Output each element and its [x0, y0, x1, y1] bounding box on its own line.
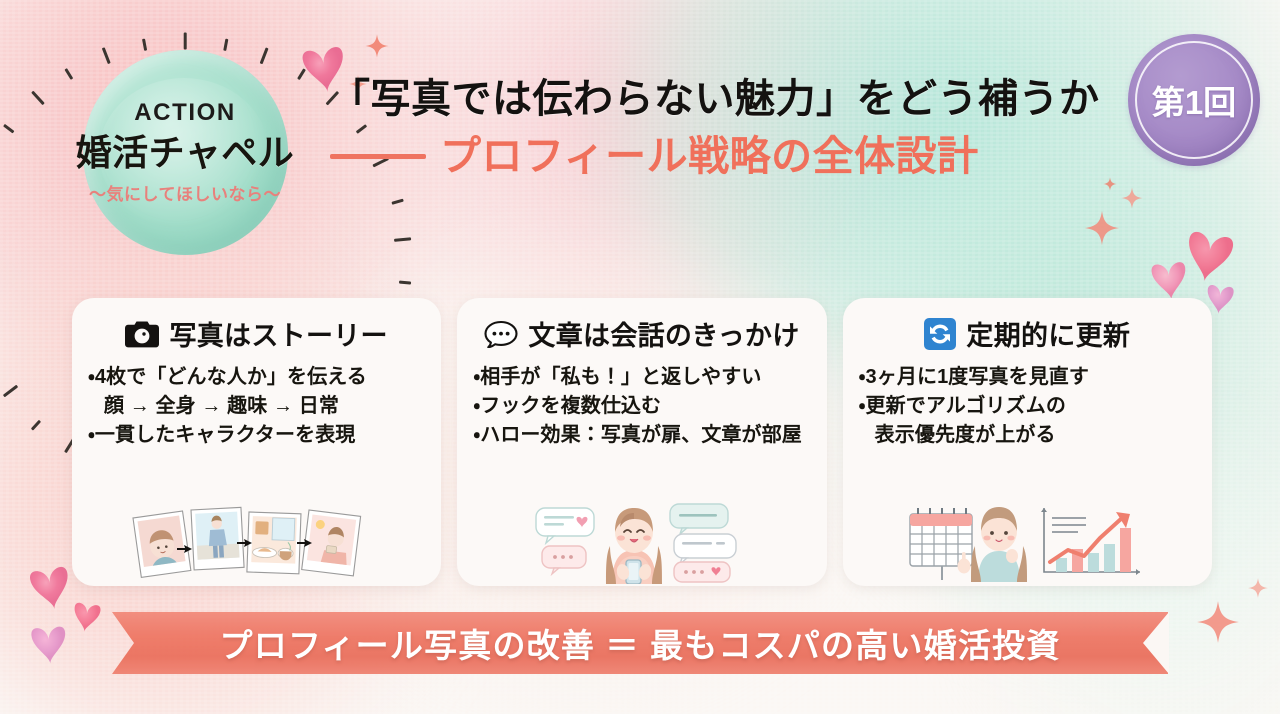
chat-woman-illustration	[522, 500, 762, 584]
card-regular-update: 定期的に更新 ・3ヶ月に1度写真を見直す ・更新でアルゴリズムの 表示優先度が上…	[843, 298, 1212, 586]
card-title: 写真はストーリー	[169, 314, 387, 353]
title-line-2: プロフィール戦略の全体設計	[440, 134, 979, 180]
card-bullet: ・4枚で「どんな人か」を伝える	[88, 363, 427, 392]
card-illustration	[72, 494, 441, 586]
camera-icon	[125, 320, 159, 348]
card-illustration	[457, 494, 826, 586]
card-bullet: ・ハロー効果：写真が扉、文章が部屋	[473, 421, 812, 450]
speech-bubble-icon	[484, 320, 518, 348]
card-bullet: ・相手が「私も！」と返しやすい	[473, 363, 812, 392]
episode-badge-label: 第1回	[1152, 76, 1236, 124]
card-row: 写真はストーリー ・4枚で「どんな人か」を伝える 顔 → 全身 → 趣味 → 日…	[72, 298, 1212, 586]
slide-title: 「写真では伝わらない魅力」をどう補うか プロフィール戦略の全体設計	[330, 76, 1120, 180]
brand-logo-badge: ACTION 婚活チャペル 〜気にしてほしいなら〜	[55, 28, 315, 278]
photo-sequence-illustration	[127, 496, 387, 582]
episode-badge: 第1回	[1128, 34, 1260, 166]
title-rule-divider	[330, 154, 426, 159]
card-illustration	[843, 494, 1212, 586]
card-text-conversation: 文章は会話のきっかけ ・相手が「私も！」と返しやすい ・フックを複数仕込む ・ハ…	[457, 298, 826, 586]
card-bullet: ・一貫したキャラクターを表現	[88, 421, 427, 450]
logo-name: 婚活チャペル	[76, 131, 295, 175]
card-bullet: ・更新でアルゴリズムの	[859, 392, 1198, 421]
card-bullet: ・フックを複数仕込む	[473, 392, 812, 421]
logo-eyebrow: ACTION	[134, 101, 236, 125]
refresh-sync-icon	[924, 318, 956, 350]
card-title: 定期的に更新	[966, 314, 1130, 353]
calendar-growth-chart-illustration	[902, 498, 1152, 584]
title-line-1: 「写真では伝わらない魅力」をどう補うか	[330, 76, 1120, 122]
card-photo-story: 写真はストーリー ・4枚で「どんな人か」を伝える 顔 → 全身 → 趣味 → 日…	[72, 298, 441, 586]
card-bullet: 表示優先度が上がる	[859, 421, 1198, 450]
logo-tagline: 〜気にしてほしいなら〜	[89, 180, 281, 205]
card-bullet: 顔 → 全身 → 趣味 → 日常	[88, 392, 427, 421]
bottom-banner: プロフィール写真の改善 ＝ 最もコスパの高い婚活投資	[112, 612, 1168, 674]
banner-text: プロフィール写真の改善 ＝ 最もコスパの高い婚活投資	[112, 612, 1168, 674]
card-bullet: ・3ヶ月に1度写真を見直す	[859, 363, 1198, 392]
slide-canvas: ACTION 婚活チャペル 〜気にしてほしいなら〜 「写真では伝わらない魅力」を…	[0, 0, 1280, 714]
card-title: 文章は会話のきっかけ	[528, 314, 799, 353]
